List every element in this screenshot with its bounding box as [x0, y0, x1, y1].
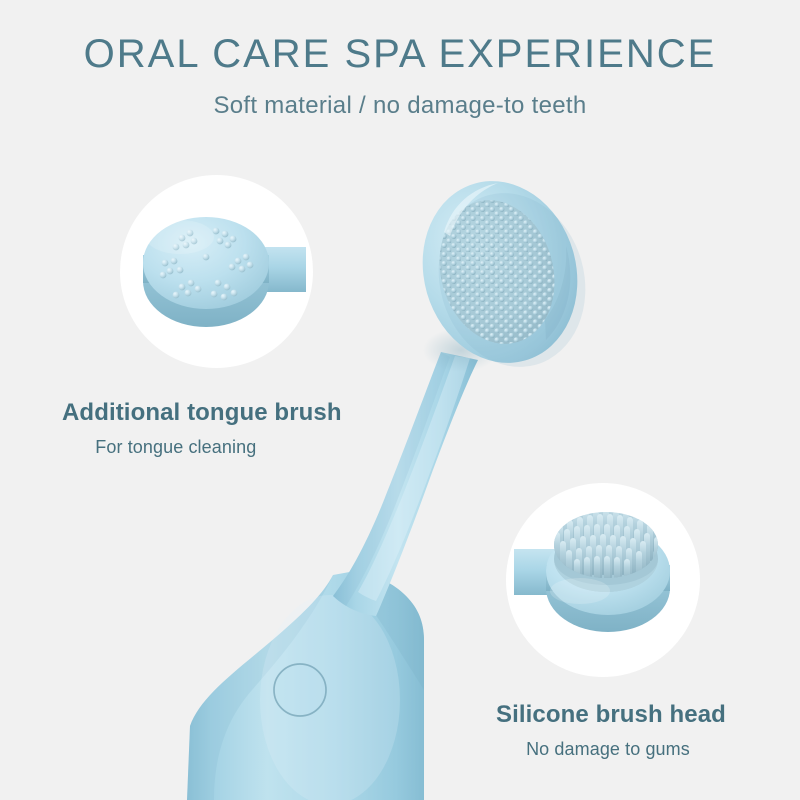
- page-title: ORAL CARE SPA EXPERIENCE: [0, 30, 800, 78]
- silicone-brush-head-art: [506, 483, 700, 677]
- power-button[interactable]: [274, 664, 326, 716]
- neck-shaft: [333, 352, 478, 616]
- silicone-brush-head-inset: [506, 483, 700, 677]
- callout-silicone-brush-subtitle: No damage to gums: [496, 736, 726, 762]
- callout-tongue-brush: Additional tongue brush For tongue clean…: [62, 398, 342, 460]
- brush-head: [402, 163, 606, 385]
- tongue-brush-head-art: [120, 175, 313, 368]
- handle-body: [187, 571, 424, 800]
- tongue-brush-head-inset: [120, 175, 313, 368]
- callout-tongue-brush-subtitle: For tongue cleaning: [62, 434, 342, 460]
- callout-tongue-brush-title: Additional tongue brush: [62, 398, 342, 428]
- callout-silicone-brush-title: Silicone brush head: [496, 700, 726, 730]
- product-poster: ORAL CARE SPA EXPERIENCE Soft material /…: [0, 0, 800, 800]
- page-subtitle: Soft material / no damage-to teeth: [0, 90, 800, 122]
- callout-silicone-brush: Silicone brush head No damage to gums: [496, 700, 726, 762]
